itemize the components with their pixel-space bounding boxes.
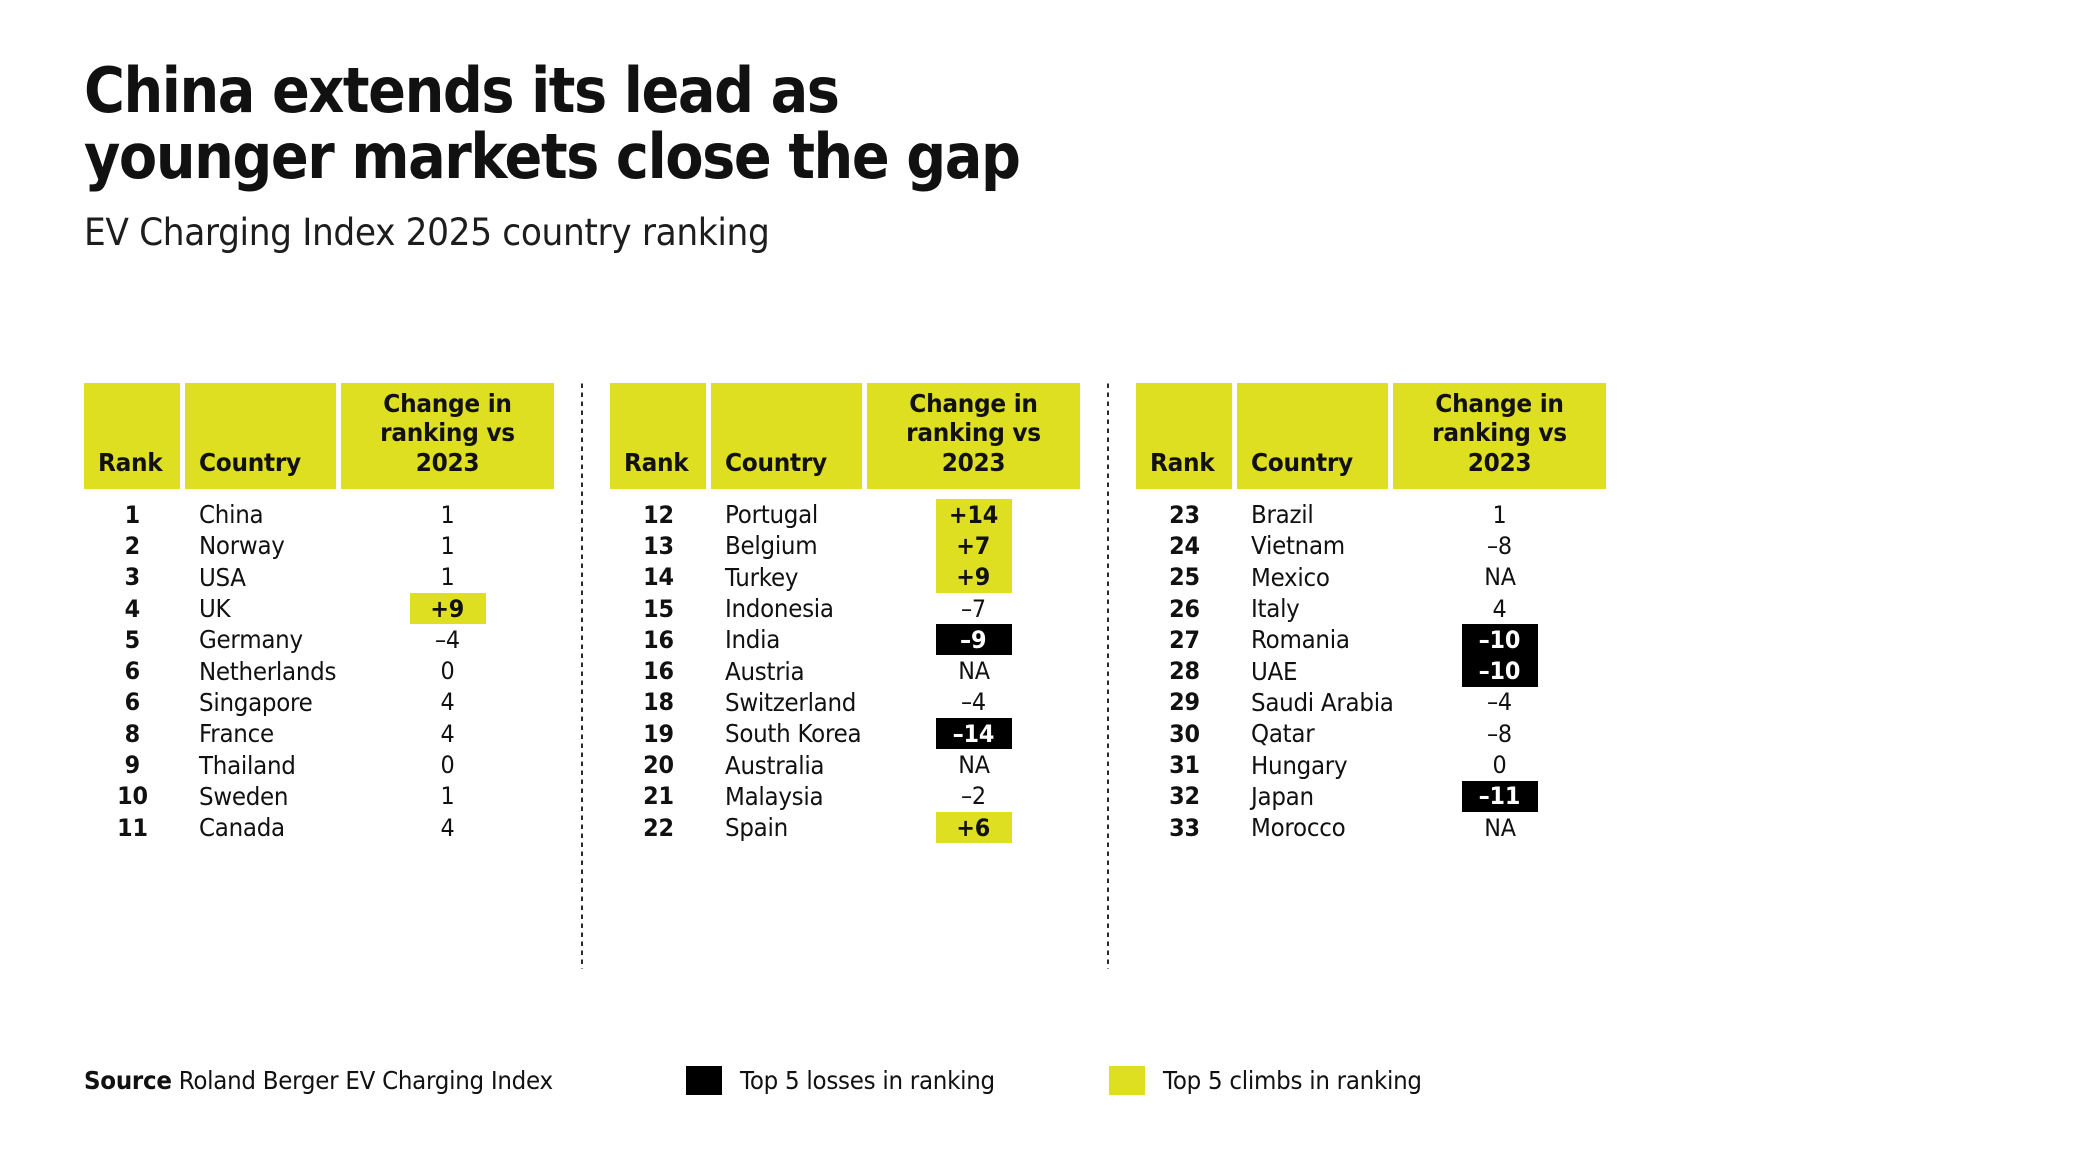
cell-change: –2 (867, 781, 1080, 812)
column-header-label: Country (1251, 448, 1353, 478)
cell-change: –8 (1393, 530, 1606, 561)
cell-rank: 2 (84, 530, 180, 561)
cell-change: +14 (867, 499, 1080, 530)
cell-rank: 29 (1136, 687, 1232, 718)
table-row[interactable]: 22Spain+6 (610, 812, 1080, 843)
table-divider (581, 383, 583, 969)
table-row[interactable]: 23Brazil1 (1136, 499, 1606, 530)
column-header-rank: Rank (1136, 383, 1232, 489)
cell-country: Malaysia (711, 781, 862, 812)
cell-rank: 5 (84, 624, 180, 655)
change-value: –4 (410, 624, 486, 655)
cell-rank: 23 (1136, 499, 1232, 530)
change-value-badge: +7 (936, 530, 1012, 561)
cell-country: Romania (1237, 624, 1388, 655)
cell-country: Germany (185, 624, 336, 655)
table-row[interactable]: 3USA1 (84, 562, 554, 593)
legend-label: Top 5 losses in ranking (740, 1066, 1017, 1095)
change-value: 4 (410, 718, 486, 749)
table-row[interactable]: 9Thailand0 (84, 749, 554, 780)
table-row[interactable]: 12Portugal+14 (610, 499, 1080, 530)
table-row[interactable]: 16India–9 (610, 624, 1080, 655)
cell-rank: 1 (84, 499, 180, 530)
cell-country: India (711, 624, 862, 655)
cell-country: Vietnam (1237, 530, 1388, 561)
cell-country: Japan (1237, 781, 1388, 812)
table-row[interactable]: 29Saudi Arabia–4 (1136, 687, 1606, 718)
cell-rank: 12 (610, 499, 706, 530)
change-value: –4 (936, 687, 1012, 718)
legend-label: Top 5 climbs in ranking (1163, 1066, 1444, 1095)
table-header-row: RankCountryChange in ranking vs 2023 (84, 383, 554, 489)
footer: Source Roland Berger EV Charging Index T… (84, 1066, 2000, 1095)
column-header-label: Country (199, 448, 301, 478)
cell-change: 1 (341, 781, 554, 812)
cell-country: Morocco (1237, 812, 1388, 843)
cell-rank: 13 (610, 530, 706, 561)
cell-country: Canada (185, 812, 336, 843)
change-value-badge: +6 (936, 812, 1012, 843)
ranking-table-1: RankCountryChange in ranking vs 20231Chi… (84, 383, 554, 843)
column-header-rank: Rank (610, 383, 706, 489)
source-label: Source (84, 1066, 172, 1095)
cell-change: +9 (341, 593, 554, 624)
change-value: 1 (410, 499, 486, 530)
cell-rank: 14 (610, 562, 706, 593)
cell-country: Indonesia (711, 593, 862, 624)
cell-rank: 16 (610, 655, 706, 686)
table-body: 1China12Norway13USA14UK+95Germany–46Neth… (84, 489, 554, 843)
cell-country: Thailand (185, 749, 336, 780)
table-row[interactable]: 19South Korea–14 (610, 718, 1080, 749)
cell-rank: 32 (1136, 781, 1232, 812)
cell-change: 0 (1393, 749, 1606, 780)
cell-rank: 8 (84, 718, 180, 749)
cell-country: Turkey (711, 562, 862, 593)
change-value-badge: –10 (1462, 624, 1538, 655)
change-value: –8 (1462, 718, 1538, 749)
column-header-label: Change in ranking vs 2023 (348, 389, 546, 478)
table-row[interactable]: 8France4 (84, 718, 554, 749)
cell-change: 4 (341, 718, 554, 749)
change-value: 1 (410, 530, 486, 561)
cell-change: 1 (341, 562, 554, 593)
cell-rank: 16 (610, 624, 706, 655)
change-value: 1 (1462, 499, 1538, 530)
change-value-badge: +9 (936, 562, 1012, 593)
column-header-label: Country (725, 448, 827, 478)
table-row[interactable]: 6Netherlands0 (84, 655, 554, 686)
change-value: 1 (410, 562, 486, 593)
page-title: China extends its lead as younger market… (84, 58, 1344, 191)
change-value: 0 (410, 749, 486, 780)
table-row[interactable]: 25MexicoNA (1136, 562, 1606, 593)
cell-rank: 28 (1136, 655, 1232, 686)
cell-rank: 26 (1136, 593, 1232, 624)
cell-change: +9 (867, 562, 1080, 593)
cell-country: Sweden (185, 781, 336, 812)
cell-rank: 19 (610, 718, 706, 749)
column-header-label: Rank (624, 448, 689, 478)
column-header-label: Change in ranking vs 2023 (1400, 389, 1598, 478)
cell-rank: 20 (610, 749, 706, 780)
change-value: 4 (410, 812, 486, 843)
change-value: 4 (1462, 593, 1538, 624)
cell-rank: 31 (1136, 749, 1232, 780)
cell-change: –10 (1393, 655, 1606, 686)
change-value: 4 (410, 687, 486, 718)
column-header-change: Change in ranking vs 2023 (867, 383, 1080, 489)
table-row[interactable]: 6Singapore4 (84, 687, 554, 718)
legend-item-loss: Top 5 losses in ranking (686, 1066, 1017, 1095)
cell-country: Spain (711, 812, 862, 843)
ranking-table-2: RankCountryChange in ranking vs 202312Po… (610, 383, 1080, 843)
cell-change: –4 (341, 624, 554, 655)
table-row[interactable]: 10Sweden1 (84, 781, 554, 812)
table-row[interactable]: 5Germany–4 (84, 624, 554, 655)
change-value: –7 (936, 593, 1012, 624)
infographic-page: China extends its lead as younger market… (0, 0, 2083, 1171)
change-value: NA (936, 749, 1012, 780)
table-row[interactable]: 28UAE–10 (1136, 655, 1606, 686)
column-header-change: Change in ranking vs 2023 (1393, 383, 1606, 489)
cell-country: Belgium (711, 530, 862, 561)
cell-country: Switzerland (711, 687, 862, 718)
cell-change: 0 (341, 749, 554, 780)
table-row[interactable]: 14Turkey+9 (610, 562, 1080, 593)
table-row[interactable]: 4UK+9 (84, 593, 554, 624)
cell-country: Singapore (185, 687, 336, 718)
table-row[interactable]: 21Malaysia–2 (610, 781, 1080, 812)
cell-change: –8 (1393, 718, 1606, 749)
table-body: 12Portugal+1413Belgium+714Turkey+915Indo… (610, 489, 1080, 843)
table-row[interactable]: 18Switzerland–4 (610, 687, 1080, 718)
cell-rank: 21 (610, 781, 706, 812)
cell-country: Qatar (1237, 718, 1388, 749)
change-value-badge: +9 (410, 593, 486, 624)
cell-change: 0 (341, 655, 554, 686)
cell-country: France (185, 718, 336, 749)
cell-rank: 33 (1136, 812, 1232, 843)
cell-country: Portugal (711, 499, 862, 530)
table-row[interactable]: 30Qatar–8 (1136, 718, 1606, 749)
table-divider (1107, 383, 1109, 969)
table-row[interactable]: 13Belgium+7 (610, 530, 1080, 561)
change-value-badge: –9 (936, 624, 1012, 655)
cell-country: USA (185, 562, 336, 593)
legend-item-climb: Top 5 climbs in ranking (1109, 1066, 1444, 1095)
cell-country: Netherlands (185, 655, 336, 686)
change-value: 0 (410, 655, 486, 686)
cell-country: UK (185, 593, 336, 624)
cell-change: 4 (1393, 593, 1606, 624)
column-header-label: Change in ranking vs 2023 (874, 389, 1072, 478)
column-header-country: Country (185, 383, 336, 489)
cell-rank: 4 (84, 593, 180, 624)
column-header-change: Change in ranking vs 2023 (341, 383, 554, 489)
cell-country: Mexico (1237, 562, 1388, 593)
cell-rank: 11 (84, 812, 180, 843)
cell-rank: 6 (84, 655, 180, 686)
ranking-tables: RankCountryChange in ranking vs 20231Chi… (84, 383, 2000, 969)
cell-change: 1 (341, 530, 554, 561)
cell-country: Italy (1237, 593, 1388, 624)
table-row[interactable]: 2Norway1 (84, 530, 554, 561)
column-header-country: Country (711, 383, 862, 489)
table-row[interactable]: 24Vietnam–8 (1136, 530, 1606, 561)
cell-rank: 10 (84, 781, 180, 812)
table-header-row: RankCountryChange in ranking vs 2023 (1136, 383, 1606, 489)
table-row[interactable]: 33MoroccoNA (1136, 812, 1606, 843)
column-header-rank: Rank (84, 383, 180, 489)
column-header-label: Rank (1150, 448, 1215, 478)
change-value: –8 (1462, 530, 1538, 561)
change-value-badge: –10 (1462, 655, 1538, 686)
cell-change: –4 (867, 687, 1080, 718)
cell-rank: 15 (610, 593, 706, 624)
table-row[interactable]: 16AustriaNA (610, 655, 1080, 686)
cell-change: +7 (867, 530, 1080, 561)
legend: Top 5 losses in rankingTop 5 climbs in r… (686, 1066, 1444, 1095)
cell-change: –10 (1393, 624, 1606, 655)
change-value-badge: +14 (936, 499, 1012, 530)
table-row[interactable]: 1China1 (84, 499, 554, 530)
table-body: 23Brazil124Vietnam–825MexicoNA26Italy427… (1136, 489, 1606, 843)
cell-change: –4 (1393, 687, 1606, 718)
page-subtitle: EV Charging Index 2025 country ranking (84, 213, 1386, 254)
cell-change: NA (1393, 812, 1606, 843)
ranking-table-3: RankCountryChange in ranking vs 202323Br… (1136, 383, 1606, 843)
legend-swatch-loss (686, 1066, 722, 1095)
table-row[interactable]: 20AustraliaNA (610, 749, 1080, 780)
table-row[interactable]: 11Canada4 (84, 812, 554, 843)
table-header-row: RankCountryChange in ranking vs 2023 (610, 383, 1080, 489)
title-block: China extends its lead as younger market… (84, 58, 1484, 253)
cell-rank: 6 (84, 687, 180, 718)
change-value: NA (1462, 562, 1538, 593)
cell-change: NA (867, 655, 1080, 686)
cell-rank: 25 (1136, 562, 1232, 593)
column-header-label: Rank (98, 448, 163, 478)
cell-country: Norway (185, 530, 336, 561)
cell-rank: 27 (1136, 624, 1232, 655)
table-row[interactable]: 32Japan–11 (1136, 781, 1606, 812)
cell-change: 1 (341, 499, 554, 530)
cell-country: Hungary (1237, 749, 1388, 780)
legend-swatch-climb (1109, 1066, 1145, 1095)
cell-change: –11 (1393, 781, 1606, 812)
cell-change: –7 (867, 593, 1080, 624)
change-value: 0 (1462, 749, 1538, 780)
table-row[interactable]: 15Indonesia–7 (610, 593, 1080, 624)
source-note: Source Roland Berger EV Charging Index (84, 1066, 594, 1095)
cell-country: Brazil (1237, 499, 1388, 530)
cell-rank: 22 (610, 812, 706, 843)
cell-rank: 30 (1136, 718, 1232, 749)
cell-change: 1 (1393, 499, 1606, 530)
cell-change: NA (867, 749, 1080, 780)
table-row[interactable]: 27Romania–10 (1136, 624, 1606, 655)
change-value: –2 (936, 781, 1012, 812)
change-value: 1 (410, 781, 486, 812)
change-value-badge: –14 (936, 718, 1012, 749)
source-text: Roland Berger EV Charging Index (179, 1066, 553, 1095)
change-value: –4 (1462, 687, 1538, 718)
cell-rank: 9 (84, 749, 180, 780)
cell-change: –14 (867, 718, 1080, 749)
cell-rank: 24 (1136, 530, 1232, 561)
cell-change: +6 (867, 812, 1080, 843)
change-value: NA (1462, 812, 1538, 843)
cell-country: Saudi Arabia (1237, 687, 1388, 718)
cell-change: 4 (341, 812, 554, 843)
cell-change: –9 (867, 624, 1080, 655)
column-header-country: Country (1237, 383, 1388, 489)
cell-country: UAE (1237, 655, 1388, 686)
cell-rank: 18 (610, 687, 706, 718)
cell-country: China (185, 499, 336, 530)
cell-country: South Korea (711, 718, 862, 749)
change-value-badge: –11 (1462, 781, 1538, 812)
cell-country: Australia (711, 749, 862, 780)
change-value: NA (936, 655, 1012, 686)
table-row[interactable]: 31Hungary0 (1136, 749, 1606, 780)
cell-country: Austria (711, 655, 862, 686)
table-row[interactable]: 26Italy4 (1136, 593, 1606, 624)
cell-change: 4 (341, 687, 554, 718)
cell-rank: 3 (84, 562, 180, 593)
cell-change: NA (1393, 562, 1606, 593)
